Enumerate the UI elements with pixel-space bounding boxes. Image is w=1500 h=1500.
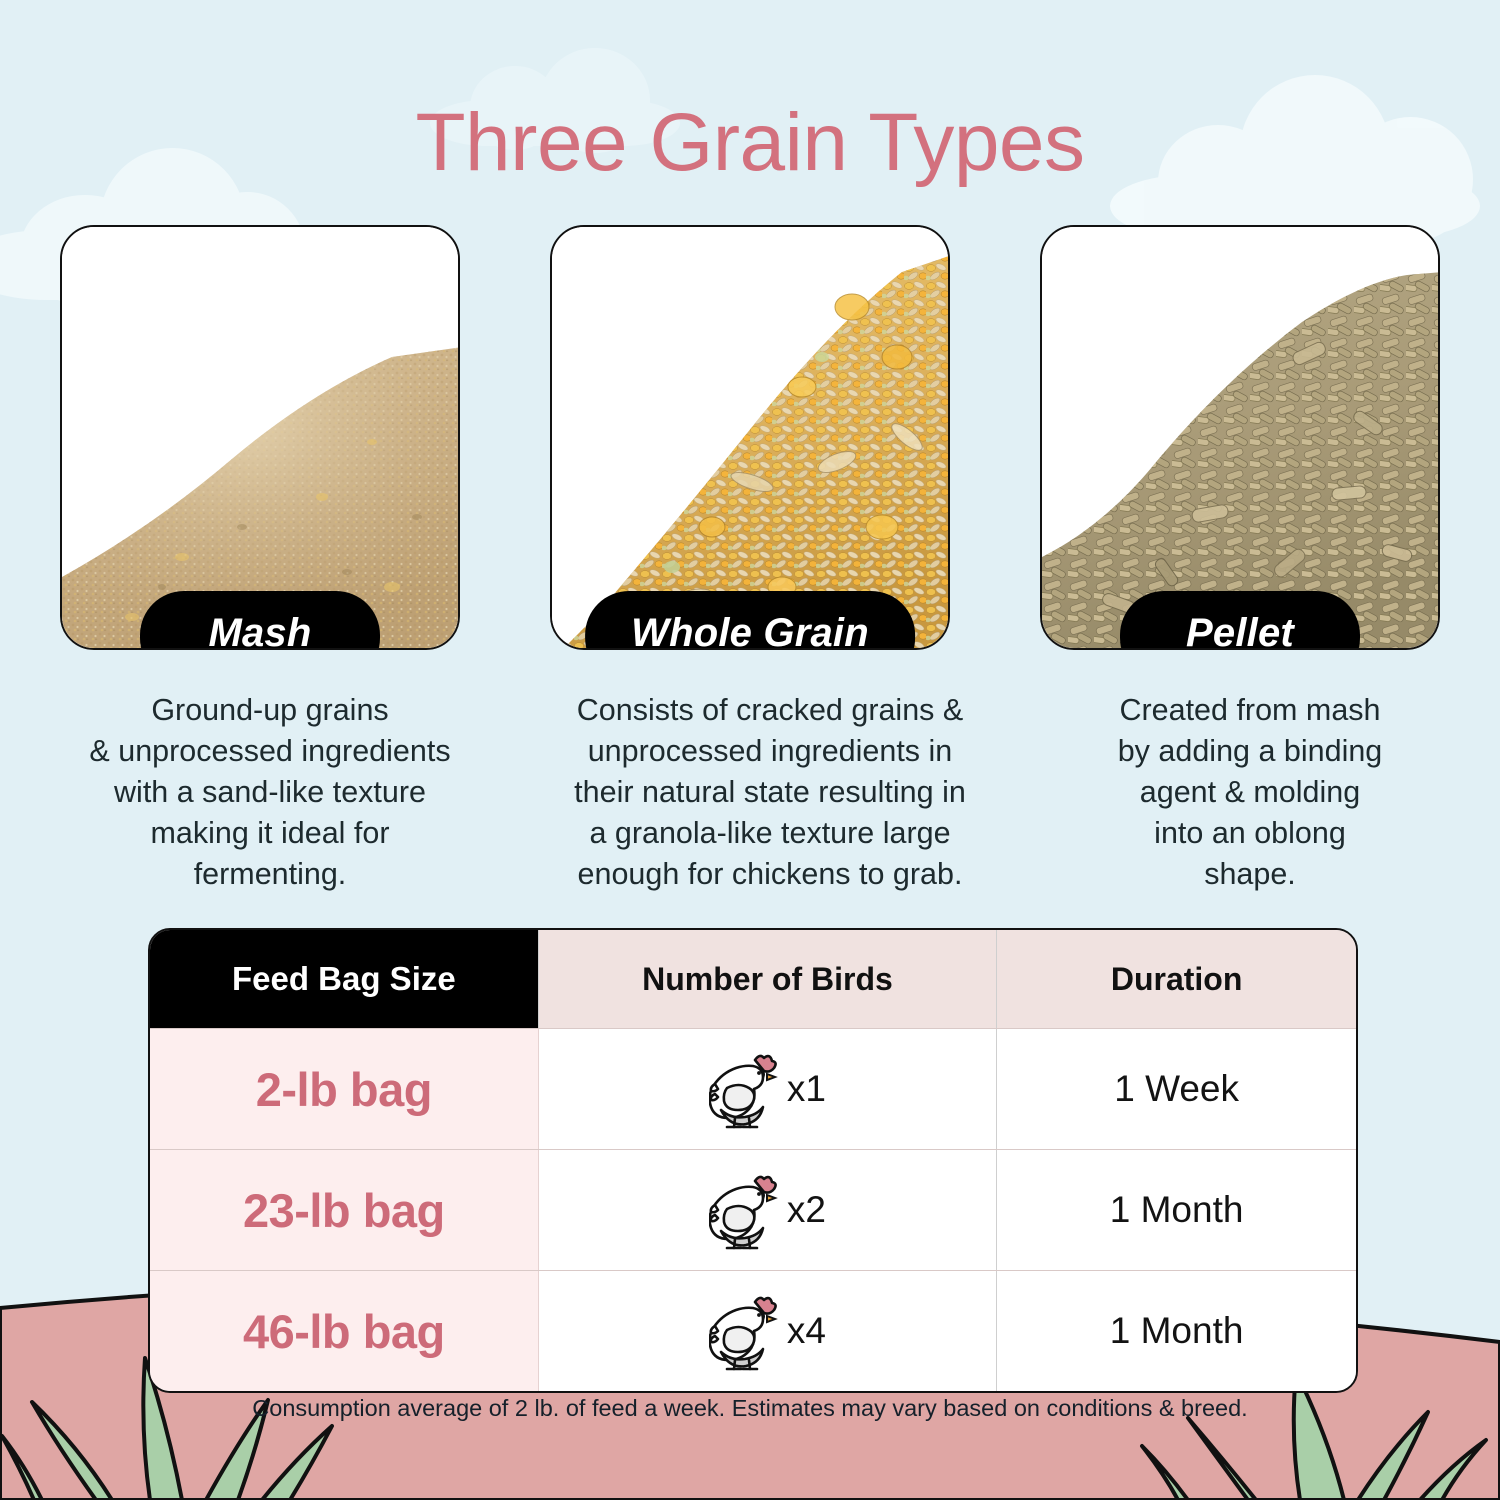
table-row[interactable]: 23-lb bag: [150, 1149, 1356, 1270]
bird-count-value: x1: [787, 1068, 826, 1110]
grain-card-whole-grain[interactable]: Whole Grain: [550, 225, 950, 650]
table-header-row: Feed Bag Size Number of Birds Duration: [150, 930, 1356, 1028]
feed-bag-size-value: 2-lb bag: [150, 1029, 539, 1149]
number-of-birds-value: x4: [539, 1271, 997, 1391]
table-header-number-of-birds: Number of Birds: [539, 930, 997, 1028]
feed-bag-size-value: 23-lb bag: [150, 1150, 539, 1270]
grain-cards-row: Mash: [60, 225, 1440, 655]
duration-value: 1 Week: [997, 1029, 1356, 1149]
bird-count-value: x4: [787, 1310, 826, 1352]
duration-value: 1 Month: [997, 1150, 1356, 1270]
grain-card-label-mash: Mash: [140, 591, 380, 650]
whole-grain-photo: [552, 227, 948, 648]
table-footnote: Consumption average of 2 lb. of feed a w…: [0, 1395, 1500, 1422]
number-of-birds-value: x1: [539, 1029, 997, 1149]
table-header-feed-bag-size: Feed Bag Size: [150, 930, 539, 1028]
grain-card-mash[interactable]: Mash: [60, 225, 460, 650]
infographic-root: Three Grain Types: [0, 0, 1500, 1500]
number-of-birds-value: x2: [539, 1150, 997, 1270]
mash-grain-photo: [62, 227, 458, 648]
table-body: 2-lb bag: [150, 1028, 1356, 1391]
chicken-icon: [709, 1165, 781, 1256]
grain-card-label-pellet: Pellet: [1120, 591, 1360, 650]
grain-card-label-whole-grain: Whole Grain: [585, 591, 915, 650]
grain-descriptions-row: Ground-up grains & unprocessed ingredien…: [60, 690, 1440, 895]
feed-bag-size-value: 46-lb bag: [150, 1271, 539, 1391]
grain-description-pellet: Created from mash by adding a binding ag…: [1060, 690, 1440, 895]
feed-bag-table: Feed Bag Size Number of Birds Duration 2…: [148, 928, 1358, 1393]
pellet-grain-photo: [1042, 227, 1438, 648]
bird-count-value: x2: [787, 1189, 826, 1231]
grain-card-pellet[interactable]: Pellet: [1040, 225, 1440, 650]
page-title: Three Grain Types: [0, 96, 1500, 190]
grain-description-mash: Ground-up grains & unprocessed ingredien…: [60, 690, 480, 895]
duration-value: 1 Month: [997, 1271, 1356, 1391]
table-row[interactable]: 46-lb bag: [150, 1270, 1356, 1391]
table-header-duration: Duration: [997, 930, 1356, 1028]
chicken-icon: [709, 1286, 781, 1377]
grain-description-whole-grain: Consists of cracked grains & unprocessed…: [530, 690, 1010, 895]
table-row[interactable]: 2-lb bag: [150, 1028, 1356, 1149]
chicken-icon: [709, 1044, 781, 1135]
